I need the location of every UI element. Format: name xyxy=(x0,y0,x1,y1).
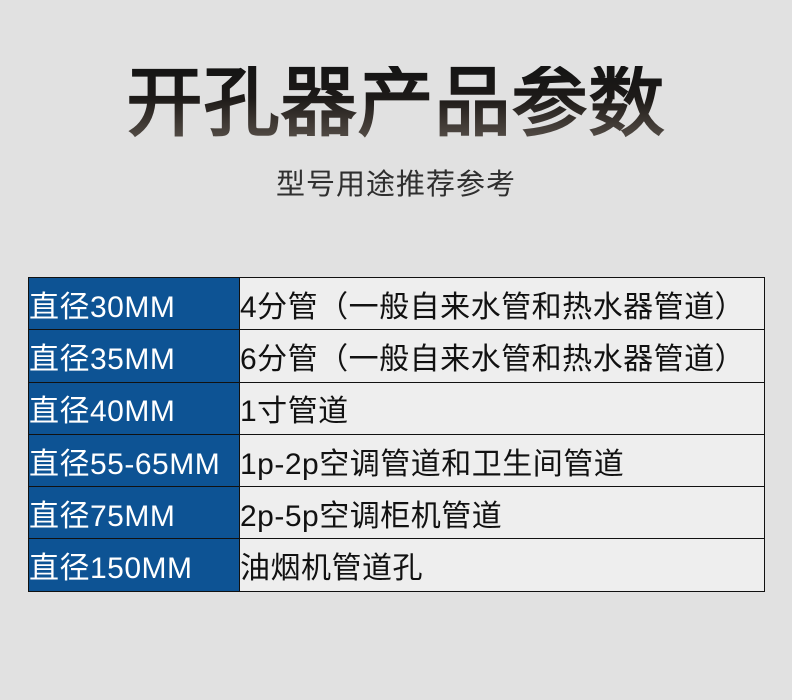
table-row: 直径30MM4分管（一般自来水管和热水器管道） xyxy=(29,278,765,330)
table-row: 直径55-65MM1p-2p空调管道和卫生间管道 xyxy=(29,434,765,486)
table-row: 直径150MM油烟机管道孔 xyxy=(29,539,765,591)
spec-usage-cell: 4分管（一般自来水管和热水器管道） xyxy=(240,278,765,330)
table-row: 直径35MM6分管（一般自来水管和热水器管道） xyxy=(29,330,765,382)
table-row: 直径40MM1寸管道 xyxy=(29,382,765,434)
spec-usage-cell: 2p-5p空调柜机管道 xyxy=(240,487,765,539)
spec-size-cell: 直径30MM xyxy=(29,278,240,330)
page-header: 开孔器产品参数 型号用途推荐参考 xyxy=(0,0,792,203)
spec-usage-cell: 1p-2p空调管道和卫生间管道 xyxy=(240,434,765,486)
spec-usage-cell: 6分管（一般自来水管和热水器管道） xyxy=(240,330,765,382)
spec-usage-cell: 油烟机管道孔 xyxy=(240,539,765,591)
spec-table-body: 直径30MM4分管（一般自来水管和热水器管道）直径35MM6分管（一般自来水管和… xyxy=(29,278,765,592)
spec-size-cell: 直径75MM xyxy=(29,487,240,539)
spec-size-cell: 直径35MM xyxy=(29,330,240,382)
spec-size-cell: 直径55-65MM xyxy=(29,434,240,486)
page-title: 开孔器产品参数 xyxy=(127,66,666,142)
spec-table: 直径30MM4分管（一般自来水管和热水器管道）直径35MM6分管（一般自来水管和… xyxy=(28,277,765,592)
page-subtitle: 型号用途推荐参考 xyxy=(0,142,792,203)
table-row: 直径75MM2p-5p空调柜机管道 xyxy=(29,487,765,539)
spec-size-cell: 直径40MM xyxy=(29,382,240,434)
spec-size-cell: 直径150MM xyxy=(29,539,240,591)
spec-usage-cell: 1寸管道 xyxy=(240,382,765,434)
